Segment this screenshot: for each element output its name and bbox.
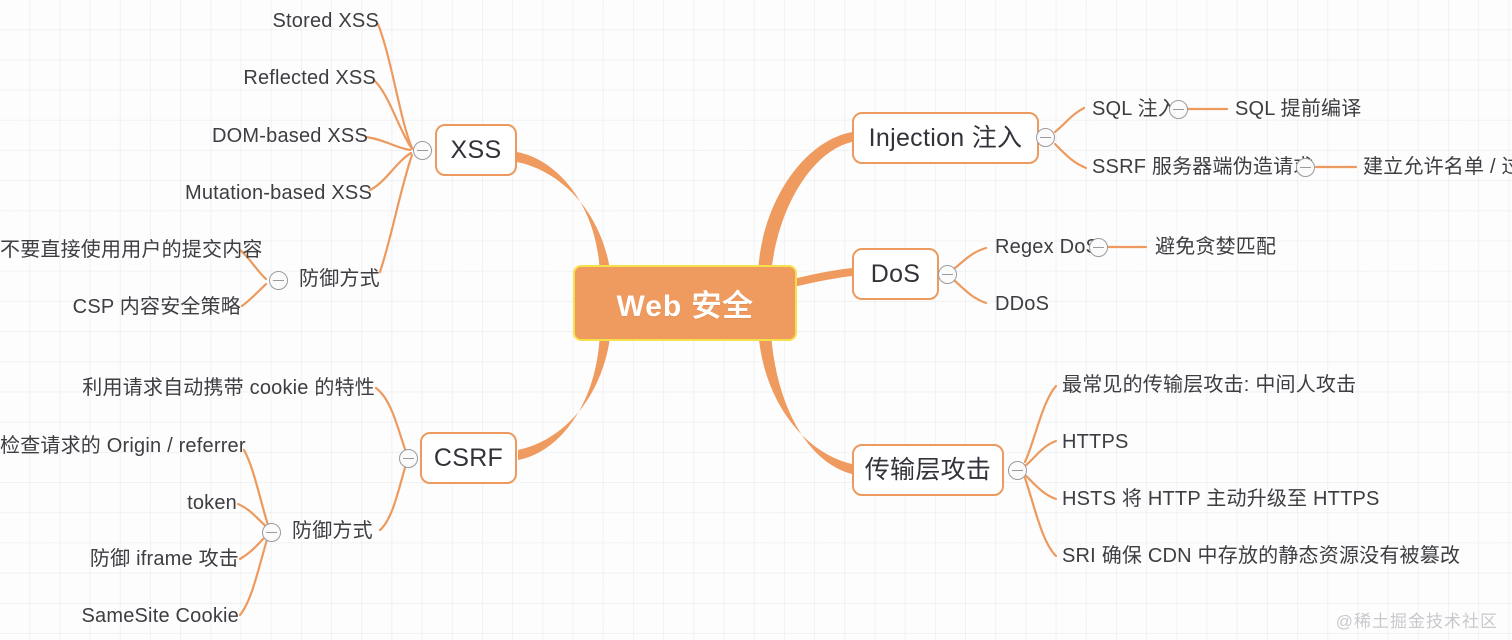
- wire-xss-reflected: [374, 80, 412, 149]
- node-csrf-defense[interactable]: 防御方式: [292, 519, 373, 543]
- leaf-samesite-cookie[interactable]: SameSite Cookie: [0, 604, 239, 628]
- leaf-dom-based-xss[interactable]: DOM-based XSS: [0, 124, 368, 148]
- leaf-check-origin-referrer[interactable]: 检查请求的 Origin / referrer: [0, 434, 243, 458]
- node-xss-label: XSS: [451, 138, 502, 163]
- leaf-sri[interactable]: SRI 确保 CDN 中存放的静态资源没有被篡改: [1062, 544, 1460, 568]
- leaf-allowlist-filter[interactable]: 建立允许名单 / 过滤: [1363, 155, 1512, 179]
- wire-xss-dom: [366, 137, 410, 150]
- leaf-no-raw-user-content[interactable]: 不要直接使用用户的提交内容: [0, 238, 239, 262]
- minus-circle-icon-csrf[interactable]: [399, 449, 418, 468]
- wire-transport-sri: [1025, 478, 1056, 556]
- root-node[interactable]: Web 安全: [573, 265, 797, 341]
- node-csrf-label: CSRF: [434, 446, 503, 471]
- root-node-label: Web 安全: [616, 281, 753, 325]
- node-xss-defense[interactable]: 防御方式: [299, 267, 380, 291]
- leaf-auto-cookie[interactable]: 利用请求自动携带 cookie 的特性: [0, 376, 375, 400]
- wire-dos-ddos: [955, 281, 986, 303]
- node-dos-label: DoS: [871, 262, 921, 287]
- minus-circle-icon-injection[interactable]: [1036, 128, 1055, 147]
- node-transport-attack[interactable]: 传输层攻击: [852, 444, 1004, 496]
- wire-injection-sql: [1055, 108, 1084, 132]
- minus-circle-icon-transport-attack[interactable]: [1008, 461, 1027, 480]
- node-regex-dos[interactable]: Regex DoS: [995, 235, 1099, 259]
- wire-transport-https: [1025, 441, 1056, 466]
- wire-csrf-defense: [380, 464, 406, 530]
- minus-circle-icon-sql-injection[interactable]: [1169, 100, 1188, 119]
- node-transport-attack-label: 传输层攻击: [865, 458, 992, 483]
- leaf-reflected-xss[interactable]: Reflected XSS: [0, 66, 376, 90]
- node-injection[interactable]: Injection 注入: [852, 112, 1039, 164]
- leaf-ddos[interactable]: DDoS: [995, 292, 1049, 316]
- leaf-csp-policy[interactable]: CSP 内容安全策略: [0, 295, 241, 319]
- leaf-hsts[interactable]: HSTS 将 HTTP 主动升级至 HTTPS: [1062, 487, 1380, 511]
- minus-circle-icon-ssrf[interactable]: [1296, 158, 1315, 177]
- leaf-sql-precompile[interactable]: SQL 提前编译: [1235, 97, 1361, 121]
- leaf-stored-xss[interactable]: Stored XSS: [0, 9, 379, 33]
- wire-xssdef-csp: [242, 284, 266, 306]
- node-csrf[interactable]: CSRF: [420, 432, 517, 484]
- wire-xss-defense: [380, 155, 412, 272]
- wire-csrfdef-samesite: [240, 536, 268, 615]
- mindmap-canvas[interactable]: Web 安全 XSS Stored XSS Reflected XSS DOM-…: [0, 0, 1512, 640]
- leaf-https[interactable]: HTTPS: [1062, 430, 1129, 454]
- watermark: @稀土掘金技术社区: [1336, 607, 1498, 632]
- wire-xss-mutation: [370, 153, 411, 190]
- minus-circle-icon-regex-dos[interactable]: [1089, 238, 1108, 257]
- minus-circle-icon-xss-defense[interactable]: [269, 271, 288, 290]
- wire-xss-stored: [378, 24, 412, 148]
- leaf-mitm[interactable]: 最常见的传输层攻击: 中间人攻击: [1062, 373, 1356, 397]
- minus-circle-icon-xss[interactable]: [413, 141, 432, 160]
- node-xss[interactable]: XSS: [435, 124, 517, 176]
- leaf-avoid-greedy-match[interactable]: 避免贪婪匹配: [1155, 235, 1276, 259]
- wire-transport-hsts: [1025, 475, 1056, 499]
- wire-injection-ssrf: [1055, 144, 1086, 168]
- node-sql-injection[interactable]: SQL 注入: [1092, 97, 1178, 121]
- wire-dos-regex: [955, 248, 986, 268]
- node-dos[interactable]: DoS: [852, 248, 939, 300]
- minus-circle-icon-csrf-defense[interactable]: [262, 523, 281, 542]
- wire-csrf-cookie: [376, 388, 406, 452]
- wire-csrfdef-token: [238, 504, 268, 528]
- wire-csrfdef-origin: [244, 450, 268, 525]
- wire-transport-mitm: [1025, 386, 1056, 462]
- minus-circle-icon-dos[interactable]: [938, 265, 957, 284]
- node-ssrf[interactable]: SSRF 服务器端伪造请求: [1092, 155, 1314, 179]
- node-injection-label: Injection 注入: [869, 126, 1023, 151]
- leaf-iframe-defense[interactable]: 防御 iframe 攻击: [0, 547, 239, 571]
- leaf-token[interactable]: token: [0, 491, 237, 515]
- leaf-mutation-based-xss[interactable]: Mutation-based XSS: [0, 181, 372, 205]
